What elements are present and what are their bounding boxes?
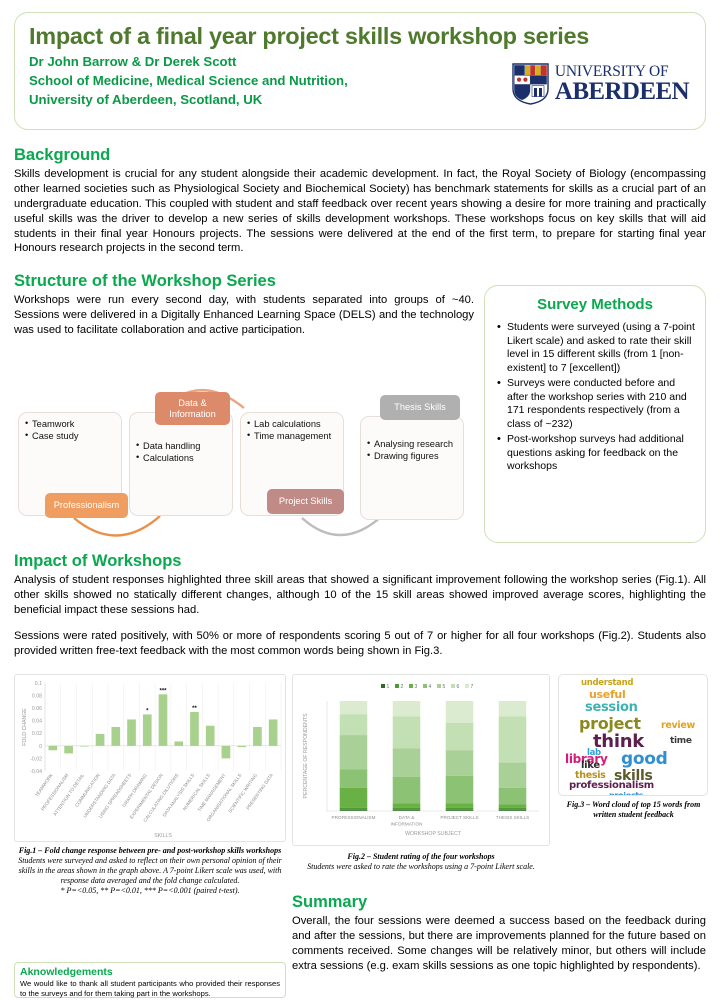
svg-text:FOLD CHANGE: FOLD CHANGE [22,708,28,746]
word-cloud-item: project [579,716,641,732]
svg-text:***: *** [159,688,167,694]
card-2-item-1: Data handling [136,441,227,453]
survey-methods-box: Survey Methods Students were surveyed (u… [484,285,706,543]
structure-heading: Structure of the Workshop Series [14,272,474,291]
svg-text:**: ** [192,706,197,712]
svg-text:TIME MANAGEMENT: TIME MANAGEMENT [197,773,227,813]
card-1-item-2: Case study [25,431,116,443]
svg-text:SKILLS: SKILLS [154,833,172,839]
workshop-tab-2-label: Data & Information [158,398,227,418]
svg-text:5: 5 [443,684,446,690]
word-cloud-item: useful [589,689,625,700]
poster-header: Impact of a final year project skills wo… [14,12,706,130]
card-1-item-1: Teamwork [25,419,116,431]
svg-text:THESIS SKILLS: THESIS SKILLS [496,815,529,820]
word-cloud-item: understand [581,679,633,688]
figure-2-caption-body: Students were asked to rate the workshop… [292,862,550,872]
svg-text:4: 4 [429,684,432,690]
figure-3-panel: understandusefulsessionprojectreviewthin… [558,674,708,796]
card-2-item-2: Calculations [136,453,227,465]
university-logo: UNIVERSITY OF ABERDEEN [512,63,689,105]
svg-text:0: 0 [39,744,42,750]
survey-methods-list: Students were surveyed (using a 7-point … [495,321,695,474]
svg-text:INFORMATION: INFORMATION [391,822,423,827]
workshop-tab-3-label: Project Skills [279,496,332,506]
workshop-tab-4-label: Thesis Skills [394,402,446,412]
figure-1-caption: Fig.1 – Fold change response between pre… [14,846,286,896]
svg-text:PERCENTAGE OF RESPONDENTS: PERCENTAGE OF RESPONDENTS [303,713,309,798]
svg-text:SCIENTIFIC WRITING: SCIENTIFIC WRITING [227,772,258,813]
figure-3-caption-title: Fig.3 – Word cloud of top 15 words from … [556,800,711,820]
university-line-2: ABERDEEN [555,80,689,103]
word-cloud-item: professionalism [569,781,654,791]
word-cloud-item: time [670,737,692,746]
structure-text: Workshops were run every second day, wit… [14,293,474,338]
svg-text:7: 7 [471,684,474,690]
figure-2-panel: 1234567PROFESSIONALISMDATA &INFORMATIONP… [292,674,550,846]
workshop-tab-1-label: Professionalism [54,500,120,510]
workshop-tab-project-skills: Project Skills [267,489,344,514]
background-heading: Background [14,146,706,165]
background-text: Skills development is crucial for any st… [14,167,706,256]
figure-3-caption: Fig.3 – Word cloud of top 15 words from … [556,800,711,820]
figure-2-caption: Fig.2 – Student rating of the four works… [292,852,550,872]
acknowledgements-heading: Aknowledgements [20,966,280,978]
survey-bullet-1: Students were surveyed (using a 7-point … [495,321,695,375]
section-summary: Summary Overall, the four sessions were … [292,893,706,974]
workshop-tab-thesis-skills: Thesis Skills [380,395,460,420]
section-structure: Structure of the Workshop Series Worksho… [14,272,474,338]
svg-text:1: 1 [387,684,390,690]
word-cloud-item: projects [609,792,643,796]
survey-methods-heading: Survey Methods [495,296,695,313]
workshop-card-4: Analysing research Drawing figures [360,416,464,520]
page-title: Impact of a final year project skills wo… [29,23,691,50]
svg-text:PROFESSIONALISM: PROFESSIONALISM [332,815,376,820]
section-background: Background Skills development is crucial… [14,146,706,256]
figure-1-caption-stats: * P=<0.05, ** P=<0.01, *** P=<0.001 (pai… [14,886,286,896]
word-cloud-item: good [621,751,668,768]
workshop-structure-diagram: Teamwork Case study Professionalism Data… [12,368,482,546]
summary-heading: Summary [292,893,706,912]
impact-paragraph-1: Analysis of student responses highlighte… [14,573,706,618]
summary-text: Overall, the four sessions were deemed a… [292,914,706,974]
impact-heading: Impact of Workshops [14,552,706,571]
svg-text:0.06: 0.06 [32,706,42,712]
likert-stacked-bar-chart: 1234567PROFESSIONALISMDATA &INFORMATIONP… [293,675,549,845]
svg-text:-0.04: -0.04 [30,769,42,775]
workshop-tab-data-information: Data & Information [155,392,230,425]
svg-text:DATA &: DATA & [399,815,415,820]
figure-2-caption-title: Fig.2 – Student rating of the four works… [292,852,550,862]
survey-bullet-2: Surveys were conducted before and after … [495,377,695,431]
acknowledgements-text: We would like to thank all student parti… [20,979,280,999]
card-4-item-1: Analysing research [367,439,458,451]
card-3-item-2: Time management [247,431,338,443]
university-wordmark: UNIVERSITY OF ABERDEEN [555,65,689,102]
svg-text:0.1: 0.1 [35,681,42,687]
word-cloud-item: session [585,701,638,714]
svg-text:6: 6 [457,684,460,690]
svg-text:-0.02: -0.02 [30,756,42,762]
svg-text:PROJECT SKILLS: PROJECT SKILLS [440,815,478,820]
svg-text:0.08: 0.08 [32,693,42,699]
svg-text:3: 3 [415,684,418,690]
poster-canvas: Impact of a final year project skills wo… [0,0,720,1000]
section-impact: Impact of Workshops Analysis of student … [14,552,706,658]
acknowledgements-box: Aknowledgements We would like to thank a… [14,962,286,998]
workshop-tab-professionalism: Professionalism [45,493,128,518]
aberdeen-crest-icon [512,63,549,105]
svg-text:WORKSHOP SUBJECT: WORKSHOP SUBJECT [405,831,462,837]
word-cloud-item: review [661,721,695,731]
card-3-item-1: Lab calculations [247,419,338,431]
svg-text:*: * [146,708,149,714]
impact-paragraph-2: Sessions were rated positively, with 50%… [14,629,706,659]
workshop-card-2: Data handling Calculations [129,412,233,516]
figure-1-caption-title: Fig.1 – Fold change response between pre… [14,846,286,856]
svg-text:2: 2 [401,684,404,690]
fold-change-bar-chart: -0.04-0.0200.020.040.060.080.1TEAMWORKPR… [15,675,285,841]
svg-text:0.04: 0.04 [32,719,42,725]
word-cloud: understandusefulsessionprojectreviewthin… [559,675,707,795]
card-4-item-2: Drawing figures [367,451,458,463]
svg-text:0.02: 0.02 [32,731,42,737]
figure-1-caption-body: Students were surveyed and asked to refl… [14,856,286,886]
survey-bullet-3: Post-workshop surveys had additional que… [495,433,695,474]
figure-1-panel: -0.04-0.0200.020.040.060.080.1TEAMWORKPR… [14,674,286,842]
